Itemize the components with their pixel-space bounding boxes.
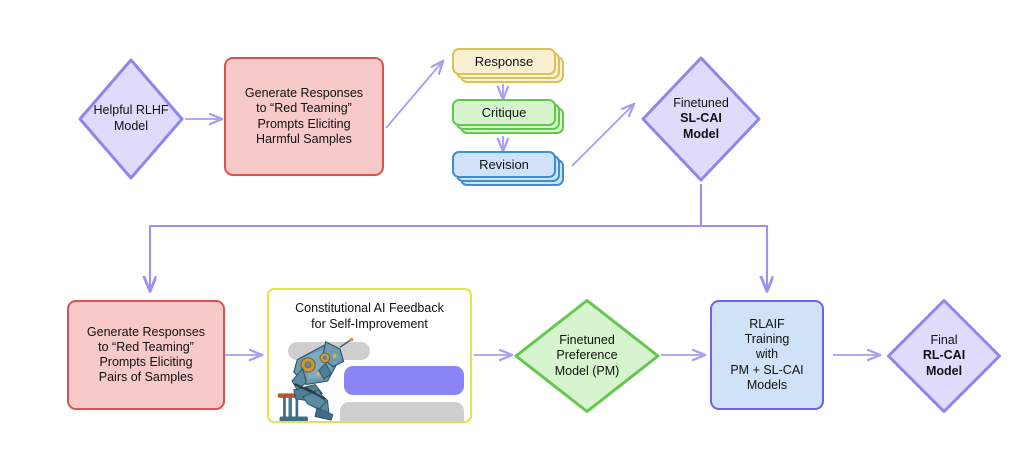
helpful-rlhf-line1: Helpful RLHF <box>93 103 168 119</box>
rlaif-line5: Models <box>730 378 803 393</box>
node-critique-card-stack[interactable]: Critique <box>452 99 572 139</box>
revision-card-layer-1: Revision <box>452 151 556 178</box>
connector-slcai-fanout <box>150 184 767 291</box>
critique-card-label: Critique <box>482 105 527 120</box>
node-sl-cai-model[interactable]: Finetuned SL-CAI Model <box>639 54 763 184</box>
final-model-line1: Final <box>923 333 965 349</box>
feedback-title-line2: for Self-Improvement <box>269 316 470 332</box>
generate-pairs-line3: Prompts Eliciting <box>87 355 205 370</box>
generate-pairs-line1: Generate Responses <box>87 325 205 340</box>
bubble-gray-bottom <box>340 402 464 423</box>
rlaif-line3: with <box>730 347 803 362</box>
node-rlaif-training[interactable]: RLAIF Training with PM + SL-CAI Models <box>710 300 824 410</box>
node-generate-harmful-responses[interactable]: Generate Responses to “Red Teaming” Prom… <box>224 57 384 176</box>
preference-model-line1: Finetuned <box>555 333 620 349</box>
generate-pairs-line2: to “Red Teaming” <box>87 340 205 355</box>
revision-card-label: Revision <box>479 157 529 172</box>
preference-model-line2: Preference <box>555 348 620 364</box>
node-final-rl-cai-model[interactable]: Final RL-CAI Model <box>885 297 1003 415</box>
node-preference-model[interactable]: Finetuned Preference Model (PM) <box>512 297 662 415</box>
generate-harmful-line3: Prompts Eliciting <box>245 117 363 132</box>
node-revision-card-stack[interactable]: Revision <box>452 151 572 191</box>
rlaif-line2: Training <box>730 332 803 347</box>
critique-card-layer-1: Critique <box>452 99 556 126</box>
sl-cai-line1: Finetuned <box>673 96 729 112</box>
response-card-label: Response <box>475 54 534 69</box>
node-helpful-rlhf-model[interactable]: Helpful RLHF Model <box>76 56 186 182</box>
generate-harmful-line1: Generate Responses <box>245 86 363 101</box>
feedback-title-line1: Constitutional AI Feedback <box>269 300 470 316</box>
rlaif-line1: RLAIF <box>730 317 803 332</box>
diagram-canvas: Helpful RLHF Model Generate Responses to… <box>0 0 1023 454</box>
node-response-card-stack[interactable]: Response <box>452 48 572 88</box>
response-card-layer-1: Response <box>452 48 556 75</box>
final-model-line2: RL-CAI <box>923 348 965 364</box>
final-model-line3: Model <box>923 364 965 380</box>
bubble-purple <box>344 366 464 395</box>
arrow-harmful-to-response <box>386 61 443 128</box>
helpful-rlhf-line2: Model <box>93 119 168 135</box>
node-generate-pairs-responses[interactable]: Generate Responses to “Red Teaming” Prom… <box>67 300 225 410</box>
preference-model-line3: Model (PM) <box>555 364 620 380</box>
node-constitutional-ai-feedback-panel[interactable]: Constitutional AI Feedback for Self-Impr… <box>267 288 472 423</box>
thinker-robot-icon <box>276 336 356 423</box>
sl-cai-line2: SL-CAI <box>673 111 729 127</box>
sl-cai-line3: Model <box>673 127 729 143</box>
generate-harmful-line4: Harmful Samples <box>245 132 363 147</box>
generate-harmful-line2: to “Red Teaming” <box>245 101 363 116</box>
generate-pairs-line4: Pairs of Samples <box>87 370 205 385</box>
feedback-panel-title: Constitutional AI Feedback for Self-Impr… <box>269 300 470 333</box>
arrow-revision-to-slcai <box>572 104 634 166</box>
rlaif-line4: PM + SL-CAI <box>730 363 803 378</box>
